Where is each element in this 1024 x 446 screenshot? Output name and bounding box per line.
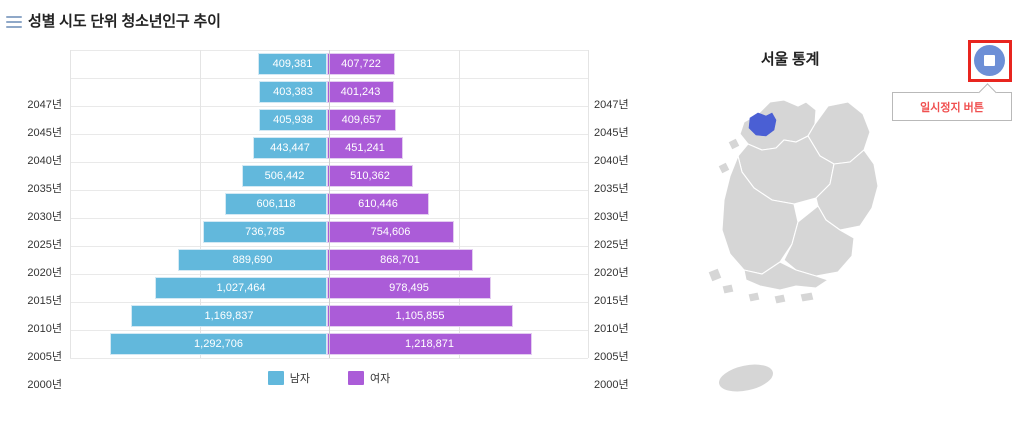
population-pyramid-chart: 409,381407,722403,383401,243405,938409,6…	[0, 40, 650, 390]
chart-bar-male-value: 889,690	[233, 254, 273, 266]
chart-bar-female-value: 401,243	[341, 86, 381, 98]
chart-bar-male-value: 1,292,706	[194, 338, 243, 350]
chart-bar-female[interactable]: 1,218,871	[327, 333, 532, 355]
legend-swatch-female-icon	[348, 371, 364, 385]
chart-bar-female-value: 610,446	[358, 198, 398, 210]
chart-year-label-right: 2035년	[594, 174, 654, 202]
chart-bar-female[interactable]: 451,241	[327, 137, 403, 159]
chart-bar-male-value: 1,027,464	[217, 282, 266, 294]
pause-button[interactable]	[974, 45, 1005, 76]
chart-year-label-left: 2045년	[0, 118, 62, 146]
stop-square-icon	[984, 55, 995, 66]
map-islet-south-3	[800, 292, 814, 302]
map-panel: 서울 통계	[650, 40, 1024, 440]
chart-bar-female-value: 407,722	[341, 58, 381, 70]
chart-bar-male-value: 409,381	[273, 58, 313, 70]
chart-bar-female[interactable]: 409,657	[327, 109, 396, 131]
chart-year-label-right: 2030년	[594, 202, 654, 230]
chart-bar-female[interactable]: 1,105,855	[327, 305, 513, 327]
pause-button-tooltip: 일시정지 버튼	[892, 92, 1012, 121]
chart-year-label-left: 2020년	[0, 258, 62, 286]
chart-gridline-vertical	[588, 50, 589, 358]
chart-year-label-right: 2000년	[594, 370, 654, 398]
map-islet-west-4	[722, 284, 734, 294]
chart-bar-male[interactable]: 736,785	[203, 221, 327, 243]
chart-bar-female-value: 510,362	[350, 170, 390, 182]
legend-item-male[interactable]: 남자	[268, 370, 310, 386]
chart-year-label-right: 2047년	[594, 90, 654, 118]
legend-label-female: 여자	[370, 370, 390, 386]
chart-bar-male[interactable]: 443,447	[253, 137, 327, 159]
chart-bar-male[interactable]: 1,292,706	[110, 333, 327, 355]
hamburger-line	[6, 21, 22, 23]
hamburger-line	[6, 26, 22, 28]
chart-bar-male[interactable]: 1,169,837	[131, 305, 327, 327]
map-regions	[708, 100, 878, 397]
chart-bar-female-value: 409,657	[342, 114, 382, 126]
chart-year-label-right: 2040년	[594, 146, 654, 174]
map-islet-west-1	[728, 138, 740, 150]
chart-year-label-left: 2025년	[0, 230, 62, 258]
chart-year-label-left: 2035년	[0, 174, 62, 202]
chart-year-label-right: 2010년	[594, 314, 654, 342]
chart-bar-male[interactable]: 409,381	[258, 53, 327, 75]
chart-bar-male[interactable]: 1,027,464	[155, 277, 327, 299]
chart-bar-male-value: 606,118	[257, 198, 296, 210]
chart-year-label-left: 2010년	[0, 314, 62, 342]
page-title: 성별 시도 단위 청소년인구 추이	[28, 10, 221, 31]
chart-bar-female-value: 754,606	[371, 226, 411, 238]
chart-bar-female[interactable]: 510,362	[327, 165, 413, 187]
chart-year-label-left: 2047년	[0, 90, 62, 118]
chart-axis-center-line	[329, 50, 330, 358]
chart-bar-male-value: 403,383	[273, 86, 313, 98]
chart-bar-male[interactable]: 506,442	[242, 165, 327, 187]
chart-bar-female-value: 868,701	[380, 254, 420, 266]
chart-year-label-left: 2030년	[0, 202, 62, 230]
chart-bar-male-value: 1,169,837	[205, 310, 254, 322]
chart-legend: 남자 여자	[70, 370, 588, 386]
chart-gridline-horizontal	[70, 358, 588, 359]
legend-swatch-male-icon	[268, 371, 284, 385]
chart-year-label-left: 2040년	[0, 146, 62, 174]
chart-bar-male[interactable]: 606,118	[225, 193, 327, 215]
chart-year-label-right: 2025년	[594, 230, 654, 258]
chart-bar-female[interactable]: 610,446	[327, 193, 429, 215]
chart-year-label-right: 2005년	[594, 342, 654, 370]
legend-label-male: 남자	[290, 370, 310, 386]
chart-year-label-left: 2015년	[0, 286, 62, 314]
map-islet-west-2	[718, 162, 730, 174]
map-islet-south-1	[748, 292, 760, 302]
chart-bar-male-value: 405,938	[273, 114, 313, 126]
chart-bar-male-value: 506,442	[265, 170, 305, 182]
chart-bar-female[interactable]: 868,701	[327, 249, 473, 271]
chart-bar-female[interactable]: 401,243	[327, 81, 394, 103]
chart-bar-female[interactable]: 754,606	[327, 221, 454, 243]
chart-year-label-right: 2020년	[594, 258, 654, 286]
chart-year-label-right: 2015년	[594, 286, 654, 314]
chart-bar-female-value: 451,241	[345, 142, 385, 154]
chart-bar-male[interactable]: 889,690	[178, 249, 327, 271]
bottom-strip	[0, 436, 1024, 446]
hamburger-line	[6, 16, 22, 18]
chart-bar-male-value: 736,785	[245, 226, 285, 238]
chart-bar-female[interactable]: 978,495	[327, 277, 491, 299]
hamburger-menu-icon[interactable]	[6, 16, 22, 28]
chart-bar-female[interactable]: 407,722	[327, 53, 395, 75]
chart-bar-male-value: 443,447	[270, 142, 310, 154]
chart-bar-female-value: 1,105,855	[396, 310, 445, 322]
chart-bar-male[interactable]: 403,383	[259, 81, 327, 103]
map-islet-west-3	[708, 268, 722, 282]
pause-button-tooltip-label: 일시정지 버튼	[920, 99, 984, 115]
chart-year-label-right: 2045년	[594, 118, 654, 146]
map-title: 서울 통계	[650, 48, 930, 69]
chart-year-label-left: 2005년	[0, 342, 62, 370]
map-islet-south-2	[774, 294, 786, 304]
chart-bar-male[interactable]: 405,938	[259, 109, 327, 131]
chart-bar-female-value: 978,495	[389, 282, 429, 294]
chart-plot-area: 409,381407,722403,383401,243405,938409,6…	[70, 50, 588, 365]
app-header: 성별 시도 단위 청소년인구 추이	[0, 0, 1024, 40]
south-korea-map[interactable]	[688, 80, 938, 430]
chart-year-label-left: 2000년	[0, 370, 62, 398]
chart-bar-female-value: 1,218,871	[405, 338, 454, 350]
map-region-jeju	[716, 359, 776, 396]
legend-item-female[interactable]: 여자	[348, 370, 390, 386]
